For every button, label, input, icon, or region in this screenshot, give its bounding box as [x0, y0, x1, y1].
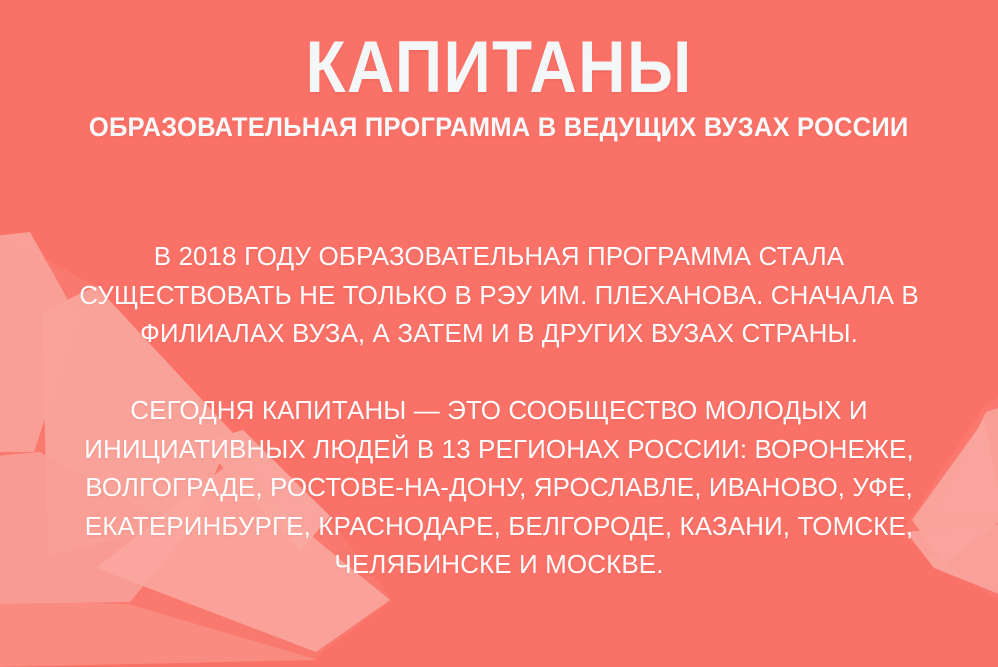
paragraph-line: ЧЕЛЯБИНСКЕ И МОСКВЕ.: [69, 545, 929, 584]
paragraph-history: В 2018 ГОДУ ОБРАЗОВАТЕЛЬНАЯ ПРОГРАММА СТ…: [69, 237, 929, 353]
paragraph-community: СЕГОДНЯ КАПИТАНЫ — ЭТО СООБЩЕСТВО МОЛОДЫ…: [69, 391, 929, 584]
paragraph-line: ВОЛГОГРАДЕ, РОСТОВЕ-НА-ДОНУ, ЯРОСЛАВЛЕ, …: [69, 468, 929, 507]
slide-content: КАПИТАНЫ ОБРАЗОВАТЕЛЬНАЯ ПРОГРАММА В ВЕД…: [0, 0, 998, 667]
paragraph-line: ФИЛИАЛАХ ВУЗА, А ЗАТЕМ И В ДРУГИХ ВУЗАХ …: [69, 314, 929, 353]
paragraph-line: СЕГОДНЯ КАПИТАНЫ — ЭТО СООБЩЕСТВО МОЛОДЫ…: [69, 391, 929, 430]
paragraph-line: В 2018 ГОДУ ОБРАЗОВАТЕЛЬНАЯ ПРОГРАММА СТ…: [69, 237, 929, 276]
body-copy: В 2018 ГОДУ ОБРАЗОВАТЕЛЬНАЯ ПРОГРАММА СТ…: [69, 237, 929, 584]
paragraph-line: ЕКАТЕРИНБУРГЕ, КРАСНОДАРЕ, БЕЛГОРОДЕ, КА…: [69, 507, 929, 546]
slide-canvas: КАПИТАНЫ ОБРАЗОВАТЕЛЬНАЯ ПРОГРАММА В ВЕД…: [0, 0, 998, 667]
paragraph-line: СУЩЕСТВОВАТЬ НЕ ТОЛЬКО В РЭУ ИМ. ПЛЕХАНО…: [69, 276, 929, 315]
page-title: КАПИТАНЫ: [305, 34, 692, 101]
paragraph-line: ИНИЦИАТИВНЫХ ЛЮДЕЙ В 13 РЕГИОНАХ РОССИИ:…: [69, 430, 929, 469]
page-subtitle: ОБРАЗОВАТЕЛЬНАЯ ПРОГРАММА В ВЕДУЩИХ ВУЗА…: [89, 113, 909, 142]
